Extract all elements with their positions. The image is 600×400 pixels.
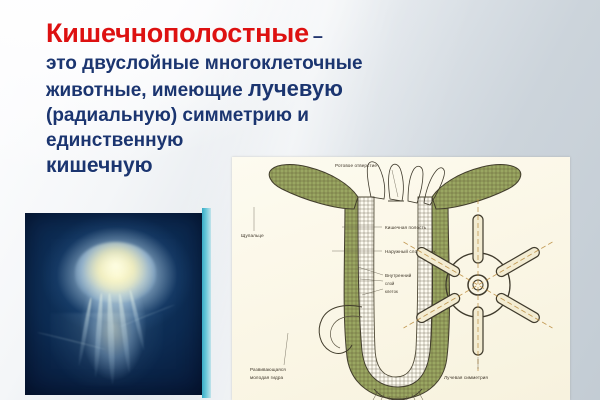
jellyfish-photo-edge-accent — [202, 208, 211, 398]
hydra-tentacle-right — [432, 165, 521, 209]
slide-canvas: Кишечнополостные– это двуслойные многокл… — [0, 0, 600, 400]
diagram-label-inner-layer-line3: клеток — [385, 289, 398, 294]
jellyfish-bell — [75, 242, 156, 302]
jellyfish-photo — [25, 213, 202, 395]
body-line-2-text: животные, имеющие — [46, 80, 248, 101]
diagram-label-radial-symmetry: Лучевая симметрия — [444, 375, 488, 380]
page-title: Кишечнополостные– — [46, 18, 584, 49]
diagram-label-inner-layer-line2: слой — [385, 281, 394, 286]
hydra-tentacle-mouth-left2 — [389, 164, 404, 201]
slide-text-block: Кишечнополостные– это двуслойные многокл… — [0, 0, 600, 178]
jellyfish-veil — [50, 313, 163, 386]
body-line-4: единственную — [46, 128, 584, 153]
body-line-2-emphasis: лучевую — [248, 76, 343, 101]
title-term: Кишечнополостные — [46, 18, 309, 48]
body-line-3: (радиальную) симметрию и — [46, 103, 584, 128]
diagram-label-mouth: Ротовое отверстие — [335, 163, 377, 168]
title-dash: – — [309, 26, 323, 46]
diagram-label-tentacle: Щупальце — [241, 233, 264, 238]
hydra-anatomy-diagram: Ротовое отверстие Щупальце Кишечная поло… — [232, 157, 570, 400]
diagram-label-inner-layer-line1: Внутренний — [385, 272, 412, 278]
diagram-label-young-hydra-line1: Развивающаяся — [250, 367, 286, 372]
hydra-tentacle-left — [269, 165, 358, 209]
body-line-1: это двуслойные многоклеточные — [46, 51, 584, 76]
diagram-label-gut-cavity: Кишечная полость — [385, 225, 427, 230]
diagram-label-young-hydra-line2: молодая гидра — [250, 375, 283, 380]
body-line-2: животные, имеющие лучевую — [46, 76, 584, 103]
